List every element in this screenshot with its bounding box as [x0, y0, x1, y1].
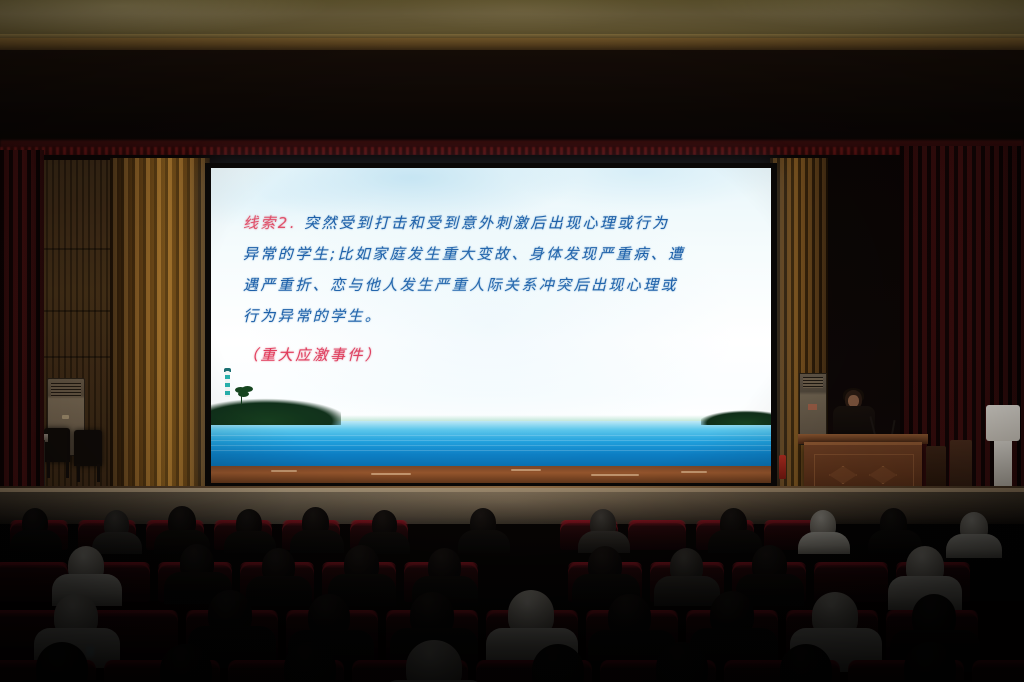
ac-badge [62, 415, 69, 419]
curtain-fringe [0, 147, 1024, 155]
slide-line-2: 异常的学生;比如家庭发生重大变故、身体发现严重病、遭 [243, 239, 743, 270]
audience-shoulders [798, 532, 850, 554]
phone-screen-glow [86, 646, 94, 657]
slide-line-4: 行为异常的学生。 [243, 301, 743, 332]
chair-leg [47, 460, 50, 478]
slide-line-3: 遇严重折、恋与他人发生严重人际关系冲突后出现心理或 [243, 270, 743, 301]
projection-screen[interactable]: 线索2. 突然受到打击和受到意外刺激后出现心理或行为 异常的学生;比如家庭发生重… [211, 168, 771, 483]
slide-line-1: 线索2. 突然受到打击和受到意外刺激后出现心理或行为 [243, 208, 743, 239]
floor-banner [986, 405, 1020, 441]
audience-shoulders [246, 576, 312, 606]
curtain-far-left [0, 150, 44, 502]
audience-shoulders [10, 530, 62, 552]
slide-island-left [211, 387, 341, 425]
audience-shoulders [946, 534, 1002, 558]
audience-shoulders [92, 532, 142, 554]
chair-leg [77, 464, 80, 482]
audience-shoulders [224, 531, 276, 553]
palm-frond [238, 391, 249, 397]
slide-ocean-shimmer [211, 435, 771, 453]
audience-shoulders [290, 530, 344, 553]
slide-footnote: （重大应激事件） [243, 344, 743, 365]
slide-line-1-text: 突然受到打击和受到意外刺激后出现心理或行为 [304, 214, 669, 232]
chair-leg [66, 460, 69, 478]
podium-diamond-ornament [829, 466, 857, 484]
slide-beach [211, 466, 771, 483]
fire-extinguisher [779, 455, 786, 479]
ceiling-light-sheen [0, 0, 1024, 40]
curtain-left [110, 158, 210, 500]
chair-leg [97, 464, 100, 482]
audience-shoulders [708, 530, 762, 553]
lighthouse-icon [225, 371, 230, 397]
seated-audience [0, 492, 1024, 682]
ac-grille-icon [803, 377, 823, 388]
slide-island-right [701, 403, 771, 425]
slide-heading-marker: 线索2. [243, 214, 297, 232]
slide-text-block: 线索2. 突然受到打击和受到意外刺激后出现心理或行为 异常的学生;比如家庭发生重… [243, 208, 743, 365]
stage-chair-left-2 [74, 430, 102, 466]
ac-badge [808, 404, 817, 410]
audience-shoulders [458, 530, 510, 553]
auditorium-photo: 线索2. 突然受到打击和受到意外刺激后出现心理或行为 异常的学生;比如家庭发生重… [0, 0, 1024, 682]
podium-diamond-ornament [869, 466, 897, 484]
audience-shoulders [654, 576, 720, 606]
waste-bin [950, 440, 972, 490]
ac-grille-icon [51, 383, 81, 397]
